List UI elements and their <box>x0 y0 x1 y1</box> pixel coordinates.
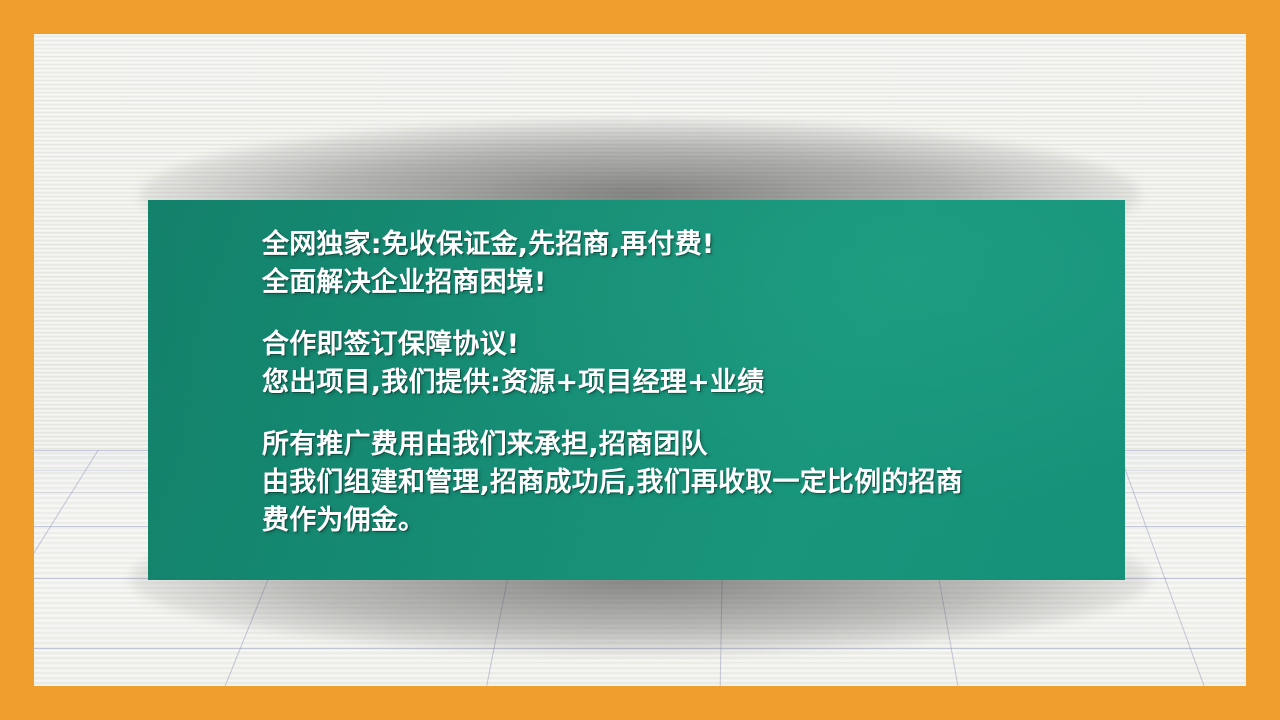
text-block-agreement: 合作即签订保障协议! 您出项目,我们提供:资源+项目经理+业绩 <box>262 326 1103 402</box>
floor-perspective-line <box>1114 450 1246 686</box>
floor-seam <box>34 648 1246 649</box>
agreement-line-1: 合作即签订保障协议! <box>262 326 1103 364</box>
commission-line-3: 费作为佣金。 <box>262 502 1103 540</box>
paragraph-gap <box>262 302 1103 326</box>
agreement-line-2: 您出项目,我们提供:资源+项目经理+业绩 <box>262 364 1103 402</box>
commission-line-2: 由我们组建和管理,招商成功后,我们再收取一定比例的招商 <box>262 464 1103 502</box>
slide-canvas: 全网独家:免收保证金,先招商,再付费! 全面解决企业招商困境! 合作即签订保障协… <box>0 0 1280 720</box>
offer-line-2: 全面解决企业招商困境! <box>262 264 1103 302</box>
promo-text-panel: 全网独家:免收保证金,先招商,再付费! 全面解决企业招商困境! 合作即签订保障协… <box>148 200 1125 580</box>
room-stage: 全网独家:免收保证金,先招商,再付费! 全面解决企业招商困境! 合作即签订保障协… <box>34 34 1246 686</box>
paragraph-gap <box>262 402 1103 426</box>
commission-line-1: 所有推广费用由我们来承担,招商团队 <box>262 426 1103 464</box>
floor-perspective-line <box>34 450 105 686</box>
text-block-commission: 所有推广费用由我们来承担,招商团队 由我们组建和管理,招商成功后,我们再收取一定… <box>262 426 1103 540</box>
offer-line-1: 全网独家:免收保证金,先招商,再付费! <box>262 226 1103 264</box>
text-block-offer: 全网独家:免收保证金,先招商,再付费! 全面解决企业招商困境! <box>262 226 1103 302</box>
